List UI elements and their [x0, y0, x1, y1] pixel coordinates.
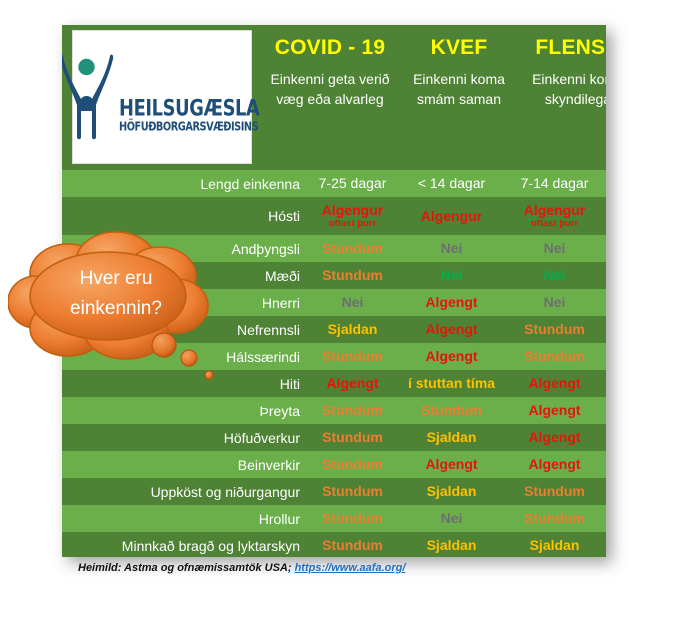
cell-value: < 14 dagar: [418, 175, 485, 191]
cell-value: Algengur: [322, 202, 383, 218]
table-cell: Sjaldan: [305, 322, 400, 337]
cell-value: 7-14 dagar: [521, 175, 589, 191]
cell-value: Nei: [441, 510, 463, 526]
row-label: Hálssærindi: [62, 349, 305, 365]
table-cell: Sjaldan: [400, 538, 503, 553]
cell-value: Algengt: [425, 294, 477, 310]
row-label: Höfuðverkur: [62, 430, 305, 446]
table-cell: Algengt: [400, 295, 503, 310]
table-cell: Stundum: [305, 268, 400, 283]
table-cell: Nei: [503, 241, 606, 256]
table-row: HitiAlgengtí stuttan tímaAlgengt: [62, 370, 606, 397]
table-row: MæðiStundumNeiNei: [62, 262, 606, 289]
table-cell: Stundum: [305, 349, 400, 364]
cell-value: Sjaldan: [530, 537, 580, 553]
cell-value: Stundum: [322, 240, 383, 256]
table-row: Minnkað bragð og lyktarskynStundumSjalda…: [62, 532, 606, 557]
table-row: Uppköst og niðurgangurStundumSjaldanStun…: [62, 478, 606, 505]
table-cell: Algengt: [503, 457, 606, 472]
row-label: Lengd einkenna: [62, 176, 305, 192]
cell-value: Sjaldan: [427, 483, 477, 499]
table-cell: Algengt: [503, 430, 606, 445]
table-cell: Nei: [503, 295, 606, 310]
table-row: BeinverkirStundumAlgengtAlgengt: [62, 451, 606, 478]
table-cell: Stundum: [305, 403, 400, 418]
column-title: KVEF: [400, 33, 518, 63]
row-label: Andþyngsli: [62, 241, 305, 257]
cell-value: Algengt: [326, 375, 378, 391]
table-row: HálssærindiStundumAlgengtStundum: [62, 343, 606, 370]
table-row: HrollurStundumNeiStundum: [62, 505, 606, 532]
cell-value: 7-25 dagar: [319, 175, 387, 191]
cell-value: Stundum: [524, 321, 585, 337]
table-cell: Algenguroftast þurr: [305, 203, 400, 229]
table-cell: Nei: [400, 268, 503, 283]
table-cell: Algengt: [400, 457, 503, 472]
cell-value: Algengur: [524, 202, 585, 218]
column-description: Einkenni geta verið væg eða alvarleg: [260, 69, 400, 109]
table-row: HóstiAlgenguroftast þurrAlgengurAlgengur…: [62, 197, 606, 235]
table-cell: Stundum: [503, 322, 606, 337]
table-row: AndþyngsliStundumNeiNei: [62, 235, 606, 262]
cell-value: Algengt: [425, 321, 477, 337]
table-cell: Algengt: [400, 322, 503, 337]
cell-value: Algengt: [425, 348, 477, 364]
column-title: COVID - 19: [260, 33, 400, 63]
table-cell: Algengt: [400, 349, 503, 364]
cell-value: Nei: [544, 294, 566, 310]
table-cell: Algengur: [400, 209, 503, 224]
heilsugaesla-figure-icon: [62, 49, 117, 150]
logo-name: HEILSUGÆSLA: [119, 98, 260, 120]
cell-value: Stundum: [524, 483, 585, 499]
row-label: Uppköst og niðurgangur: [62, 484, 305, 500]
logo-subtitle: HÖFUÐBORGARSVÆÐISINS: [119, 121, 258, 134]
table-cell: Algengt: [503, 403, 606, 418]
table-cell: Sjaldan: [400, 484, 503, 499]
table-cell: Nei: [400, 241, 503, 256]
cell-value: Stundum: [322, 483, 383, 499]
table-cell: Stundum: [305, 430, 400, 445]
infographic-panel: HEILSUGÆSLA HÖFUÐBORGARSVÆÐISINS COVID -…: [62, 25, 606, 557]
row-label: Nefrennsli: [62, 322, 305, 338]
table-cell: Nei: [503, 268, 606, 283]
row-label: Minnkað bragð og lyktarskyn: [62, 538, 305, 554]
table-cell: Algengt: [305, 376, 400, 391]
column-header-flensa: FLENSA Einkenni koma skyndilega: [518, 33, 606, 109]
table-cell: Sjaldan: [503, 538, 606, 553]
cell-value: Algengt: [528, 375, 580, 391]
table-cell: Algengt: [503, 376, 606, 391]
table-cell: Nei: [305, 295, 400, 310]
source-link[interactable]: https://www.aafa.org/: [295, 562, 406, 574]
source-label: Heimild: Astma og ofnæmissamtök USA;: [78, 562, 295, 574]
table-row: HnerriNeiAlgengtNei: [62, 289, 606, 316]
cell-value: Stundum: [322, 537, 383, 553]
cell-value: Stundum: [322, 402, 383, 418]
cell-value: Stundum: [524, 348, 585, 364]
cell-value: Algengt: [528, 456, 580, 472]
cell-value: Nei: [544, 267, 566, 283]
cell-value: Sjaldan: [328, 321, 378, 337]
row-label: Þreyta: [62, 403, 305, 419]
row-label: Hiti: [62, 376, 305, 392]
table-cell: Stundum: [305, 457, 400, 472]
row-label: Hósti: [62, 208, 305, 224]
row-label: Hnerri: [62, 295, 305, 311]
cell-value: Algengt: [425, 456, 477, 472]
table-cell: Stundum: [503, 484, 606, 499]
cell-value: Sjaldan: [427, 537, 477, 553]
table-cell: 7-25 dagar: [305, 176, 400, 191]
table-cell: 7-14 dagar: [503, 176, 606, 191]
table-cell: Stundum: [503, 511, 606, 526]
table-cell: Stundum: [305, 511, 400, 526]
cell-subvalue: oftast þurr: [305, 219, 400, 229]
cell-value: í stuttan tíma: [408, 375, 495, 391]
table-row: HöfuðverkurStundumSjaldanAlgengt: [62, 424, 606, 451]
table-cell: Stundum: [305, 241, 400, 256]
table-cell: Sjaldan: [400, 430, 503, 445]
cell-value: Stundum: [322, 429, 383, 445]
column-description: Einkenni koma smám saman: [400, 69, 518, 109]
cell-value: Stundum: [322, 510, 383, 526]
table-cell: Stundum: [503, 349, 606, 364]
column-description: Einkenni koma skyndilega: [518, 69, 606, 109]
table-row: ÞreytaStundumStundumAlgengt: [62, 397, 606, 424]
column-title: FLENSA: [518, 33, 606, 63]
source-footer: Heimild: Astma og ofnæmissamtök USA; htt…: [78, 562, 405, 574]
cell-value: Algengt: [528, 402, 580, 418]
row-label: Beinverkir: [62, 457, 305, 473]
column-header-kvef: KVEF Einkenni koma smám saman: [400, 33, 518, 109]
cell-value: Stundum: [322, 267, 383, 283]
cell-value: Nei: [441, 267, 463, 283]
cell-value: Nei: [441, 240, 463, 256]
cell-subvalue: oftast þurr: [503, 219, 606, 229]
cell-value: Stundum: [322, 348, 383, 364]
table-cell: Nei: [400, 511, 503, 526]
logo: HEILSUGÆSLA HÖFUÐBORGARSVÆÐISINS: [72, 30, 252, 164]
cell-value: Sjaldan: [427, 429, 477, 445]
cell-value: Stundum: [322, 456, 383, 472]
table-cell: Algenguroftast þurr: [503, 203, 606, 229]
cell-value: Stundum: [524, 510, 585, 526]
panel-header: HEILSUGÆSLA HÖFUÐBORGARSVÆÐISINS COVID -…: [62, 25, 606, 170]
cell-value: Algengt: [528, 429, 580, 445]
cell-value: Nei: [544, 240, 566, 256]
column-header-covid: COVID - 19 Einkenni geta verið væg eða a…: [260, 33, 400, 109]
table-row: Lengd einkenna7-25 dagar< 14 dagar7-14 d…: [62, 170, 606, 197]
table-cell: Stundum: [400, 403, 503, 418]
table-cell: í stuttan tíma: [400, 376, 503, 391]
cell-value: Algengur: [421, 208, 482, 224]
table-row: NefrennsliSjaldanAlgengtStundum: [62, 316, 606, 343]
table-cell: Stundum: [305, 538, 400, 553]
table-cell: Stundum: [305, 484, 400, 499]
row-label: Hrollur: [62, 511, 305, 527]
cell-value: Nei: [342, 294, 364, 310]
table-cell: < 14 dagar: [400, 176, 503, 191]
cell-value: Stundum: [421, 402, 482, 418]
row-label: Mæði: [62, 268, 305, 284]
symptom-comparison-table: Lengd einkenna7-25 dagar< 14 dagar7-14 d…: [62, 170, 606, 557]
